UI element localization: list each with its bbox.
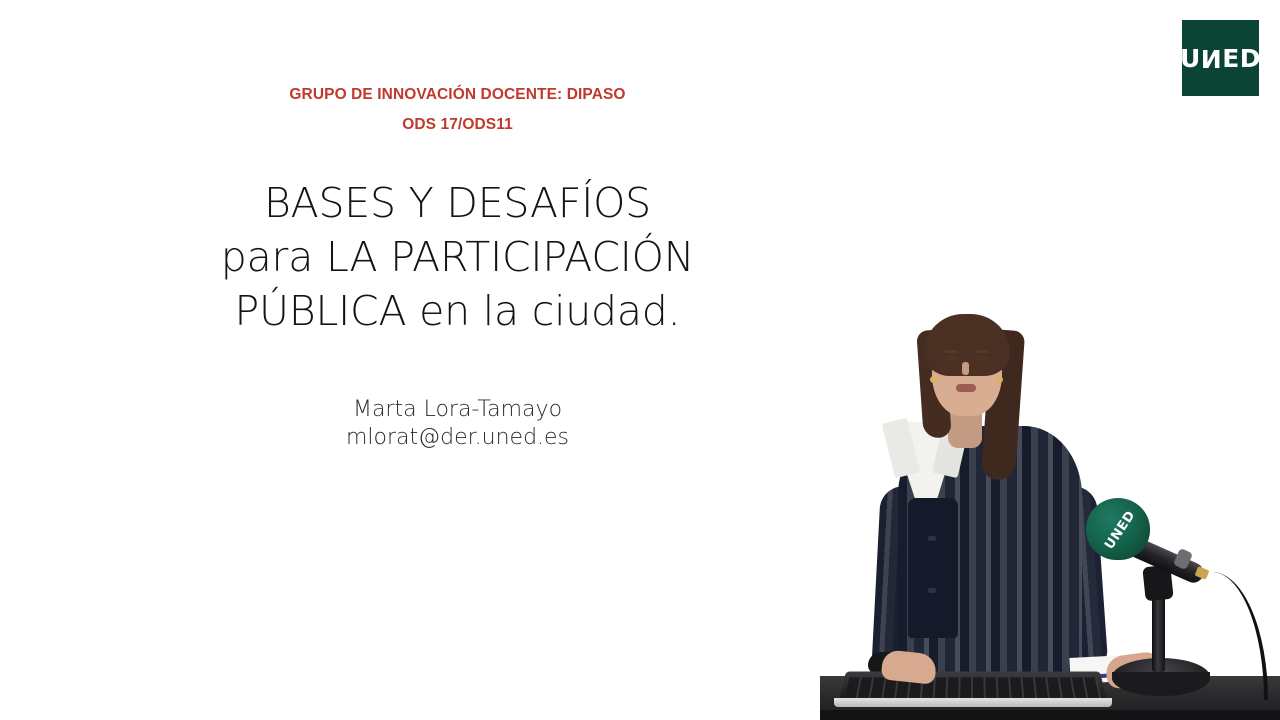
microphone-windscreen — [1086, 498, 1150, 560]
logo-letter-u: U — [1180, 46, 1201, 71]
presenter-eyebrow-left — [944, 350, 958, 353]
uned-logo-text: UNED — [1180, 46, 1261, 71]
header-line-group: GRUPO DE INNOVACIÓN DOCENTE: DIPASO — [160, 80, 755, 110]
presenter-vest — [908, 498, 958, 638]
presenter-eye-left — [946, 356, 957, 360]
logo-letter-d: D — [1240, 46, 1261, 71]
logo-letter-e: E — [1222, 46, 1240, 71]
author-block: Marta Lora-Tamayo mlorat@der.uned.es — [200, 396, 715, 452]
presenter-eyebrow-right — [975, 350, 989, 353]
presenter-video-inset: UNED — [820, 300, 1280, 720]
author-name: Marta Lora-Tamayo — [200, 396, 715, 424]
presentation-slide: UNED GRUPO DE INNOVACIÓN DOCENTE: DIPASO… — [0, 0, 1280, 720]
title-line-3: PÚBLICA en la ciudad. — [150, 284, 765, 338]
vest-button-upper — [928, 536, 936, 541]
title-line-2: para LA PARTICIPACIÓN — [150, 230, 765, 284]
title-line-1: BASES Y DESAFÍOS — [150, 176, 765, 230]
presenter-eye-right — [976, 356, 987, 360]
author-email: mlorat@der.uned.es — [200, 424, 715, 452]
earring-left — [930, 376, 937, 383]
presenter-nose — [962, 362, 969, 375]
header-block: GRUPO DE INNOVACIÓN DOCENTE: DIPASO ODS … — [160, 80, 755, 140]
presenter-mouth — [956, 384, 976, 392]
keyboard-keys — [844, 677, 1101, 699]
keyboard-base — [834, 698, 1112, 707]
header-line-ods: ODS 17/ODS11 — [160, 110, 755, 140]
desk-front-edge — [820, 710, 1280, 720]
logo-letter-n: N — [1201, 46, 1222, 71]
microphone-stem — [1152, 592, 1165, 672]
uned-logo: UNED — [1182, 20, 1259, 96]
earring-right — [996, 376, 1003, 383]
page-title: BASES Y DESAFÍOS para LA PARTICIPACIÓN P… — [150, 176, 765, 338]
vest-button-lower — [928, 588, 936, 593]
